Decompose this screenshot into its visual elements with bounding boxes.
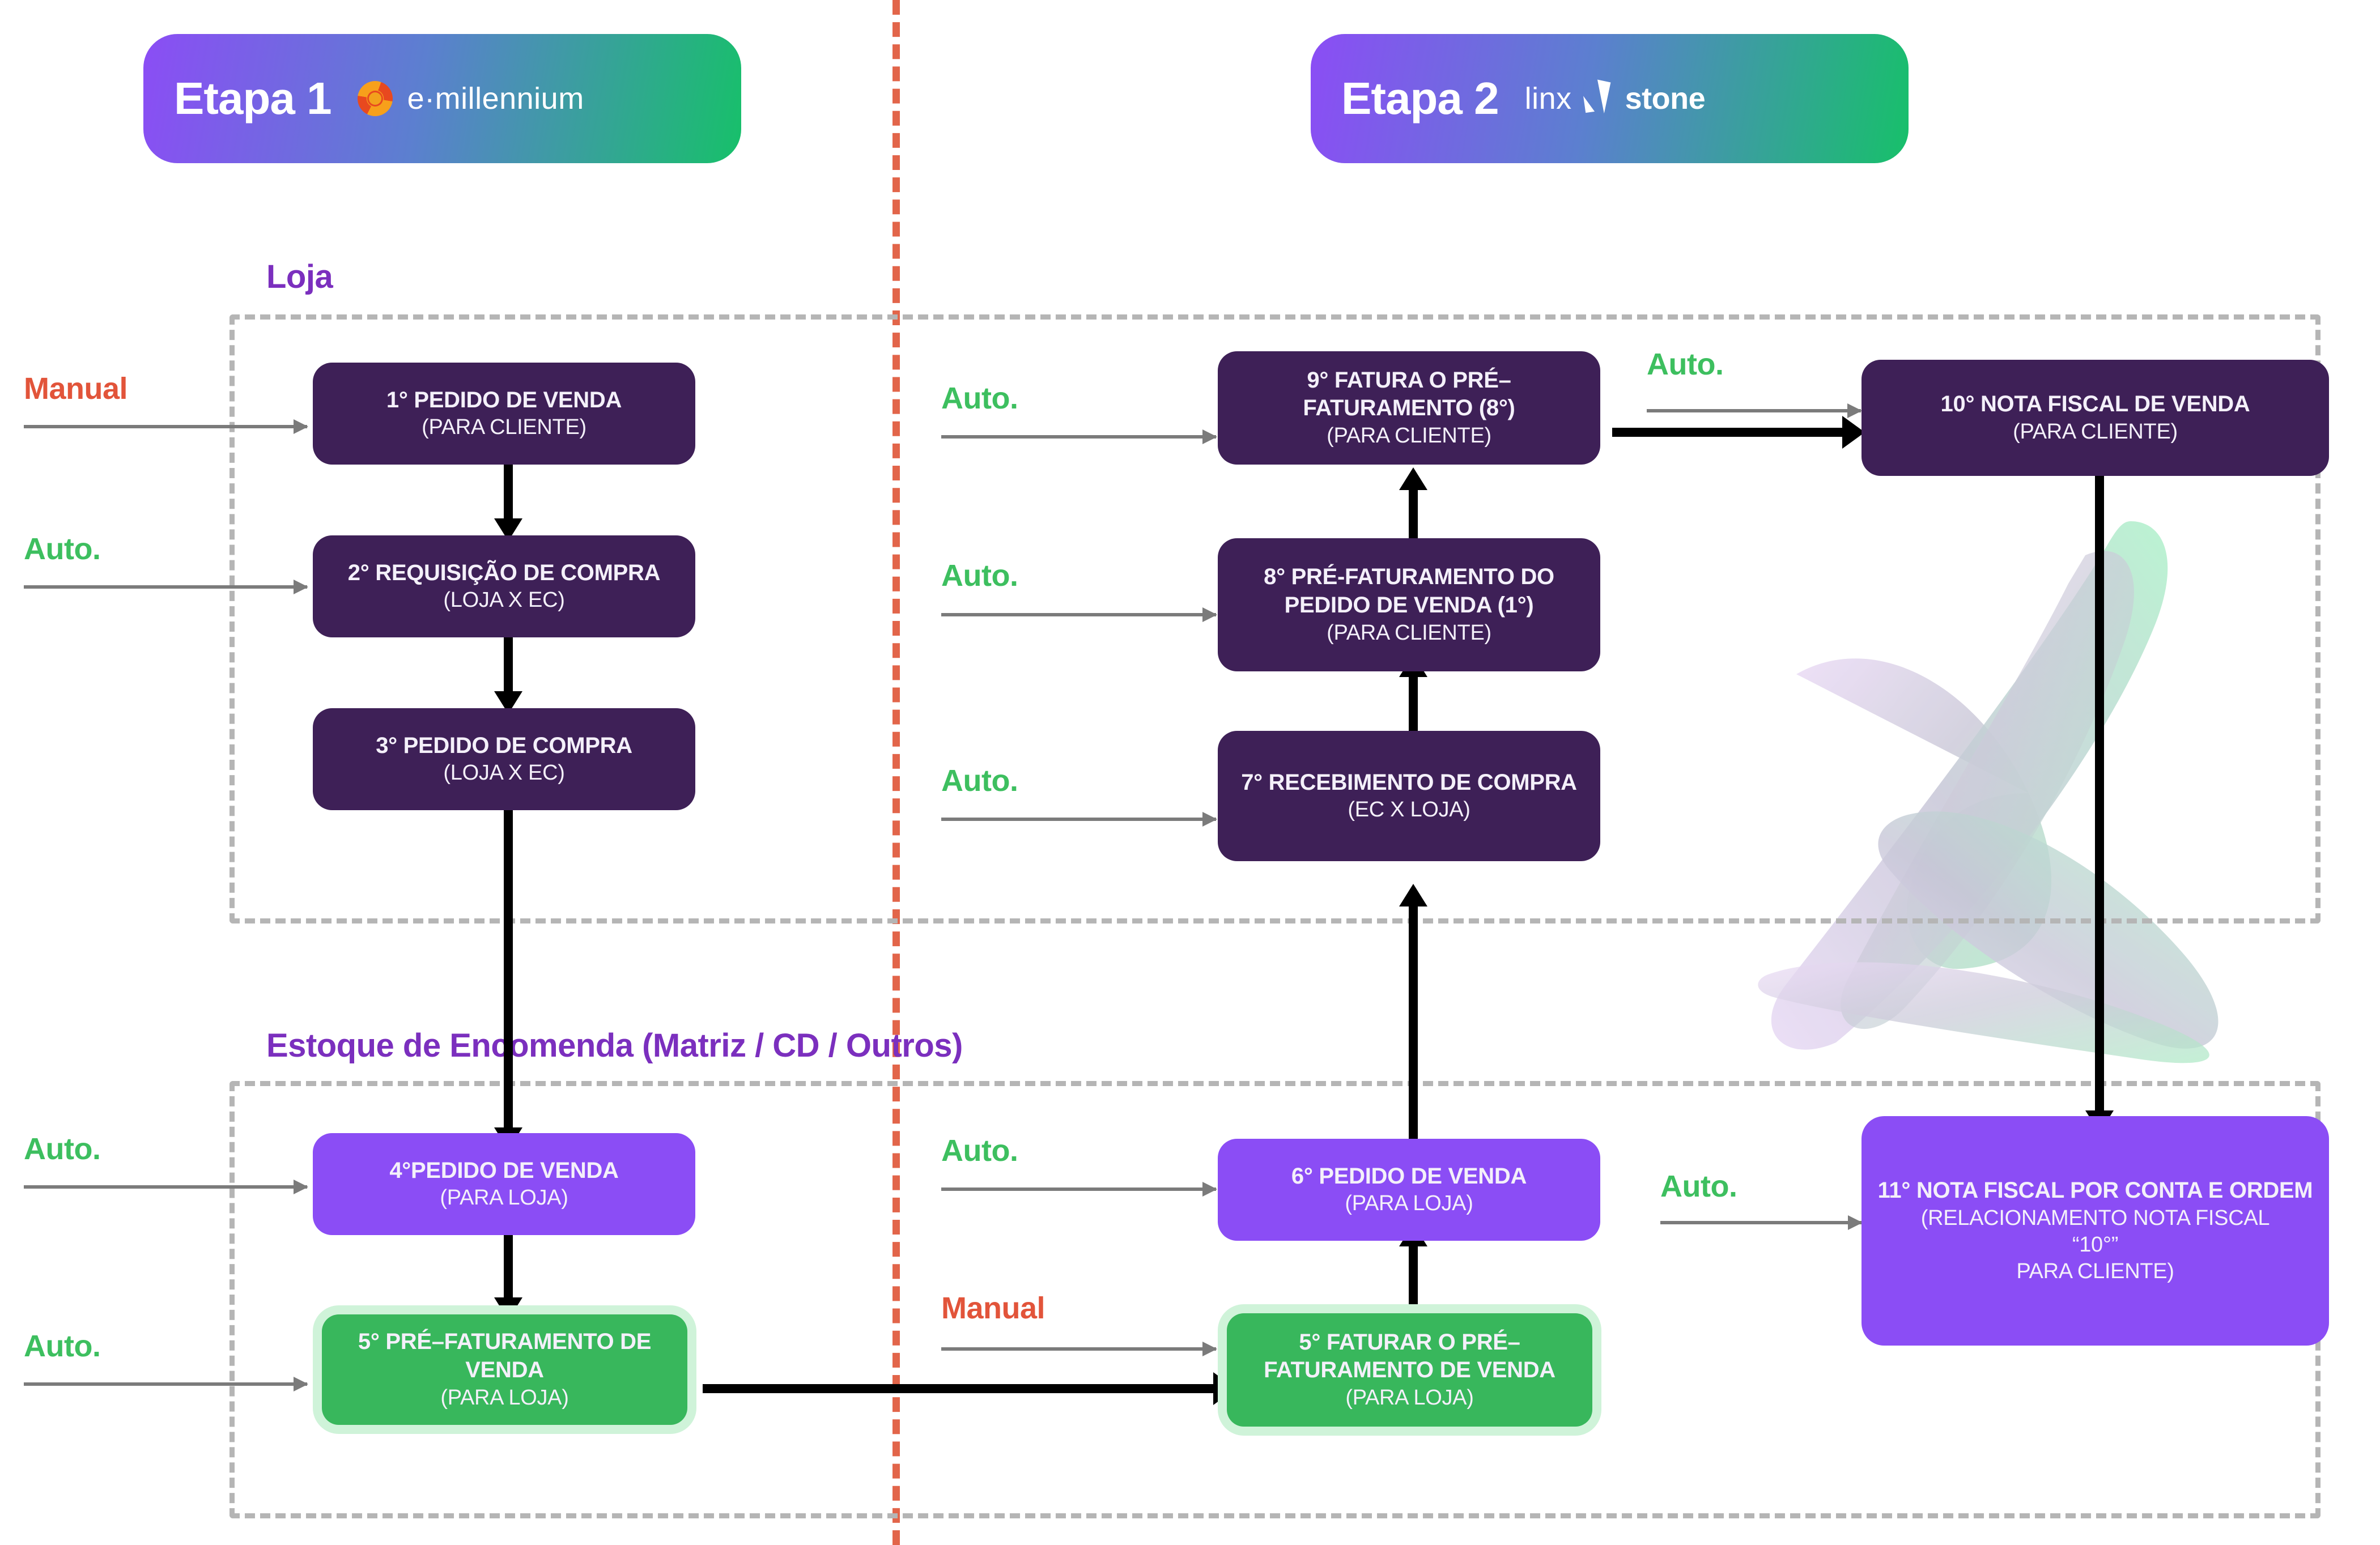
edge-arrow-to-node-6 (941, 1188, 1216, 1191)
etapa-2-header: Etapa 2 linx stone (1311, 34, 1909, 163)
node-9-fatura-o-pre-faturamento[interactable]: 9° FATURA O PRÉ–FATURAMENTO (8°) (PARA C… (1218, 351, 1600, 465)
linx-logo-text: linx (1525, 81, 1572, 116)
edge-label-4-auto: Auto. (24, 1131, 100, 1167)
node-3-title: 3° PEDIDO DE COMPRA (376, 732, 632, 760)
node-6-title: 6° PEDIDO DE VENDA (1291, 1163, 1527, 1191)
lane-label-loja: Loja (266, 258, 333, 296)
node-4-pedido-de-venda-para-loja[interactable]: 4°PEDIDO DE VENDA (PARA LOJA) (313, 1133, 695, 1235)
node-4-title: 4°PEDIDO DE VENDA (389, 1157, 618, 1185)
node-3-pedido-de-compra[interactable]: 3° PEDIDO DE COMPRA (LOJA X EC) (313, 708, 695, 810)
flow-node-5-to-node-5b (703, 1384, 1215, 1393)
node-5b-faturar-o-pre-faturamento[interactable]: 5° FATURAR O PRÉ–FATURAMENTO DE VENDA (P… (1227, 1313, 1592, 1427)
edge-arrow-to-node-4 (24, 1185, 307, 1189)
e-millennium-logo: e·millennium (358, 81, 584, 116)
node-11-title: 11° NOTA FISCAL POR CONTA E ORDEM (1878, 1177, 2313, 1205)
node-5b-subtitle: (PARA LOJA) (1345, 1385, 1473, 1411)
edge-label-11-auto: Auto. (1660, 1169, 1737, 1204)
e-millennium-logo-text: e·millennium (407, 81, 584, 116)
etapa-1-header: Etapa 1 e·millennium (143, 34, 741, 163)
node-1-subtitle: (PARA CLIENTE) (422, 414, 586, 441)
node-11-nota-fiscal-por-conta-e-ordem[interactable]: 11° NOTA FISCAL POR CONTA E ORDEM (RELAC… (1861, 1116, 2329, 1346)
edge-arrow-to-node-8 (941, 613, 1216, 616)
node-5b-title: 5° FATURAR O PRÉ–FATURAMENTO DE VENDA (1239, 1329, 1580, 1385)
node-3-subtitle: (LOJA X EC) (443, 760, 564, 786)
node-10-title: 10° NOTA FISCAL DE VENDA (1941, 390, 2250, 419)
flowchart-canvas: Etapa 1 e·millennium Etapa 2 linx stone … (0, 0, 2380, 1545)
node-2-title: 2° REQUISIÇÃO DE COMPRA (348, 559, 660, 588)
edge-label-8-auto: Auto. (941, 558, 1018, 593)
node-10-nota-fiscal-de-venda[interactable]: 10° NOTA FISCAL DE VENDA (PARA CLIENTE) (1861, 360, 2329, 476)
edge-arrow-to-node-7 (941, 818, 1216, 821)
node-11-subtitle-1: (RELACIONAMENTO NOTA FISCAL (1921, 1205, 2270, 1232)
node-5-subtitle: (PARA LOJA) (440, 1385, 568, 1411)
edge-arrow-to-node-1 (24, 425, 307, 428)
node-7-subtitle: (EC X LOJA) (1348, 797, 1470, 823)
edge-label-5b-manual: Manual (941, 1291, 1045, 1326)
node-11-subtitle-3: PARA CLIENTE) (2016, 1258, 2174, 1285)
node-7-title: 7° RECEBIMENTO DE COMPRA (1241, 769, 1577, 797)
linx-arrow-icon (1582, 79, 1615, 118)
node-8-subtitle: (PARA CLIENTE) (1327, 620, 1491, 646)
node-1-pedido-de-venda[interactable]: 1° PEDIDO DE VENDA (PARA CLIENTE) (313, 363, 695, 465)
linx-stone-logos: linx stone (1525, 79, 1706, 118)
edge-label-10-auto: Auto. (1647, 347, 1723, 382)
flow-node-9-to-node-10 (1612, 428, 1844, 437)
edge-arrow-to-node-10 (1647, 409, 1861, 412)
node-1-title: 1° PEDIDO DE VENDA (386, 386, 622, 415)
edge-arrow-to-node-5 (24, 1382, 307, 1386)
edge-arrow-to-node-5b (941, 1347, 1216, 1351)
flow-node-2-to-node-3 (504, 637, 513, 697)
node-11-subtitle-2: “10°” (2072, 1232, 2118, 1258)
node-5-pre-faturamento-de-venda[interactable]: 5° PRÉ–FATURAMENTO DE VENDA (PARA LOJA) (322, 1314, 687, 1425)
node-2-subtitle: (LOJA X EC) (443, 587, 564, 614)
edge-arrow-to-node-2 (24, 585, 307, 589)
node-6-pedido-de-venda-para-loja[interactable]: 6° PEDIDO DE VENDA (PARA LOJA) (1218, 1139, 1600, 1241)
flow-node-3-to-node-4 (504, 810, 513, 1133)
etapa-2-title: Etapa 2 (1341, 73, 1499, 125)
edge-arrow-to-node-9 (941, 435, 1216, 439)
edge-label-5-auto: Auto. (24, 1329, 100, 1364)
edge-label-7-auto: Auto. (941, 763, 1018, 798)
node-9-title: 9° FATURA O PRÉ–FATURAMENTO (8°) (1230, 367, 1588, 423)
etapa-1-title: Etapa 1 (174, 73, 331, 125)
node-8-pre-faturamento-do-pedido-de-venda[interactable]: 8° PRÉ-FATURAMENTO DO PEDIDO DE VENDA (1… (1218, 538, 1600, 671)
flow-node-4-to-node-5 (504, 1235, 513, 1303)
e-millennium-mark-icon (358, 81, 393, 116)
flow-node-5b-to-node-6 (1409, 1241, 1418, 1309)
node-7-recebimento-de-compra[interactable]: 7° RECEBIMENTO DE COMPRA (EC X LOJA) (1218, 731, 1600, 861)
flow-node-7-to-node-8 (1409, 671, 1418, 731)
flow-node-8-to-node-9 (1409, 484, 1418, 544)
edge-label-2-auto: Auto. (24, 531, 100, 567)
node-4-subtitle: (PARA LOJA) (440, 1185, 568, 1211)
lane-label-estoque: Estoque de Encomenda (Matriz / CD / Outr… (266, 1027, 963, 1065)
stone-logo-text: stone (1625, 81, 1706, 116)
node-9-subtitle: (PARA CLIENTE) (1327, 423, 1491, 449)
node-10-subtitle: (PARA CLIENTE) (2013, 419, 2178, 445)
node-5-title: 5° PRÉ–FATURAMENTO DE VENDA (334, 1328, 675, 1384)
edge-label-6-auto: Auto. (941, 1133, 1018, 1168)
edge-arrow-to-node-11 (1660, 1221, 1861, 1224)
flow-node-10-to-node-11 (2095, 476, 2104, 1116)
node-2-requisicao-de-compra[interactable]: 2° REQUISIÇÃO DE COMPRA (LOJA X EC) (313, 535, 695, 637)
node-8-title: 8° PRÉ-FATURAMENTO DO PEDIDO DE VENDA (1… (1230, 563, 1588, 619)
flow-node-1-to-node-2 (504, 465, 513, 524)
node-6-subtitle: (PARA LOJA) (1345, 1190, 1473, 1217)
edge-label-9-auto: Auto. (941, 381, 1018, 416)
edge-label-1-manual: Manual (24, 371, 127, 406)
